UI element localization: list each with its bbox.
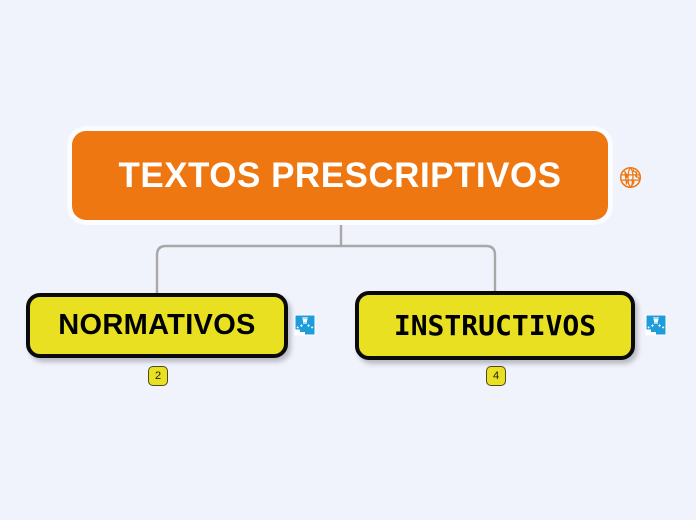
globe-icon[interactable] bbox=[619, 166, 642, 189]
child-node-instructivos[interactable]: INSTRUCTIVOS bbox=[355, 291, 635, 360]
child-node-label: NORMATIVOS bbox=[58, 311, 255, 340]
child-count-badge[interactable]: 4 bbox=[486, 366, 506, 386]
child-count-badge[interactable]: 2 bbox=[148, 366, 168, 386]
connector-bracket bbox=[157, 246, 495, 296]
galicia-flag-icon[interactable] bbox=[645, 314, 667, 336]
root-node-label: TEXTOS PRESCRIPTIVOS bbox=[118, 158, 561, 193]
root-node[interactable]: TEXTOS PRESCRIPTIVOS bbox=[72, 131, 608, 220]
child-node-label: INSTRUCTIVOS bbox=[394, 312, 596, 340]
galicia-flag-icon[interactable] bbox=[294, 314, 316, 336]
child-node-normativos[interactable]: NORMATIVOS bbox=[26, 293, 288, 358]
mindmap-canvas: TEXTOS PRESCRIPTIVOS NORMATIVOS bbox=[0, 0, 696, 520]
connector-lines bbox=[0, 0, 696, 520]
